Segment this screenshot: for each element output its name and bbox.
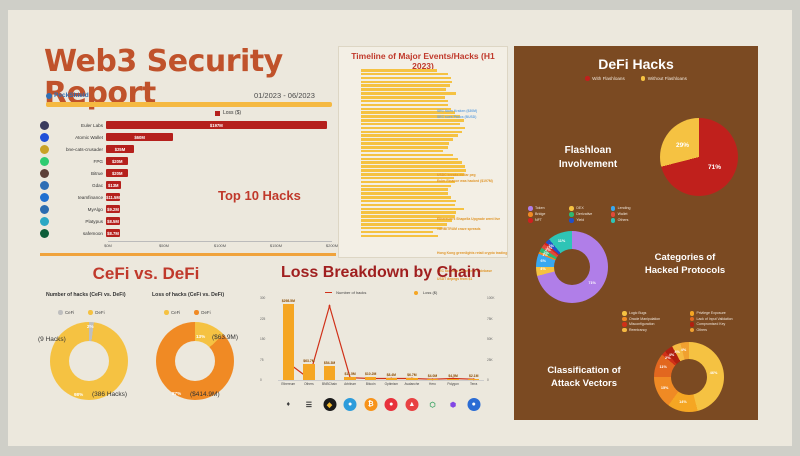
slice-label: 4%: [540, 267, 546, 271]
protocol-name: Atomic Wallet: [51, 135, 103, 140]
attack-vectors-title: Classification of Attack Vectors: [524, 364, 644, 390]
legend-swatch: [164, 310, 169, 315]
timeline-bar: [361, 81, 452, 84]
top10-legend: Loss ($): [215, 110, 241, 116]
y-axis-tick-right: 0: [487, 378, 489, 382]
legend-item: Loss ($): [414, 290, 437, 295]
loss-bar: $13M: [106, 181, 121, 189]
loss-value: $197M: [210, 123, 223, 128]
donut-hole: [175, 341, 215, 381]
polygon-icon: ⬢: [447, 398, 460, 411]
chain-axis-label: Polygon: [447, 382, 459, 386]
timeline-bar: [361, 150, 443, 153]
chain-loss-bar: [283, 304, 294, 380]
legend-item: Oracle Manipulation: [622, 317, 685, 322]
legend-item: Others: [611, 218, 648, 223]
timeline-annotation: SEC Sues Kraken ($30M): [437, 109, 477, 113]
brand-logo: PeckShield: [46, 92, 89, 99]
legend-item: CeFi: [58, 310, 74, 315]
legend-swatch: [690, 311, 695, 316]
legend-swatch: [528, 206, 533, 211]
legend-label: Reentrancy: [629, 328, 647, 332]
protocol-name: safemoon: [51, 231, 103, 236]
timeline-bar: [361, 77, 451, 80]
y-axis-tick-left: 225: [260, 317, 265, 321]
timeline-annotation: Ethereum's Shapella Upgrade went live: [437, 217, 500, 221]
chain-loss-bar: [427, 379, 438, 380]
chain-loss-bar: [365, 377, 376, 380]
slice-label: 6%: [540, 259, 546, 263]
top10-axis: $0M$50M$100M$150M$200M: [108, 241, 332, 252]
protocol-name: bne-cats-crusader: [51, 147, 103, 152]
timeline-annotation: USDC breaks dollar peg: [437, 173, 476, 177]
terra-icon: ●: [467, 398, 480, 411]
top10-row: safemoon$8.7M: [40, 228, 332, 238]
timeline-bar: [361, 196, 451, 199]
chain-axis-label: Arbitrum: [344, 382, 356, 386]
legend-item: Compromised Key: [690, 322, 753, 327]
flashloan-without-pct: 29%: [676, 142, 689, 149]
timeline-bar: [361, 127, 465, 130]
legend-label: DeFi: [201, 310, 210, 315]
top10-row: Atomic Wallet$60M: [40, 132, 332, 142]
legend-label: Yield: [576, 218, 584, 222]
timeline-bar: [361, 231, 433, 234]
timeline-bar: [361, 123, 460, 126]
timeline-bar: [361, 185, 451, 188]
cefi-loss-pct: 13%: [196, 334, 205, 339]
legend-item: With Flashloans: [585, 76, 625, 81]
loss-value: $11.5M: [106, 195, 120, 200]
protocol-logo-icon: [40, 217, 49, 226]
legend-label: Token: [535, 206, 545, 210]
defi-hacks-pct: 98%: [74, 392, 83, 397]
legend-item: NFT: [528, 218, 565, 223]
timeline-bar: [361, 158, 458, 161]
timeline-plot: SEC Sues Kraken ($30M)SEC sues Paxos (BU…: [361, 69, 483, 239]
timeline-bar: [361, 169, 466, 172]
loss-value: $20M: [112, 171, 122, 176]
timeline-bar: [361, 104, 448, 107]
axis-tick: $150M: [270, 243, 282, 248]
loss-value: $60M: [134, 135, 144, 140]
legend-label: CeFi: [171, 310, 180, 315]
chain-axis-label: Optimism: [385, 382, 398, 386]
legend-label: DEX: [576, 206, 583, 210]
axis-tick: $50M: [159, 243, 169, 248]
chain-loss-bar: [468, 379, 479, 380]
chain-loss-value: $298.5M: [282, 299, 295, 303]
loss-bar: $11.5M: [106, 193, 120, 201]
flashloan-legend: With FlashloansWithout Flashloans: [514, 76, 758, 81]
legend-swatch: [611, 206, 616, 211]
optimism-icon: ●: [385, 398, 398, 411]
timeline-annotation: SEC sues Paxos (BUSD): [437, 115, 476, 119]
defi-loss-pct: 87%: [172, 391, 181, 396]
top10-row: bne-cats-crusader$25M: [40, 144, 332, 154]
loss-of-hacks-legend: CeFiDeFi: [164, 310, 211, 315]
brand-name: PeckShield: [54, 92, 89, 99]
timeline-bar: [361, 96, 445, 99]
chain-loss-value: $63.7M: [303, 359, 314, 363]
legend-item: Others: [690, 328, 753, 333]
chain-loss-bar: [303, 364, 314, 380]
legend-label-loss: Loss ($): [223, 110, 241, 116]
legend-swatch: [690, 328, 695, 333]
top10-row: Euler Labs$197M: [40, 120, 332, 130]
bnbchain-icon: ◆: [323, 398, 336, 411]
defi-hacks-panel: DeFi Hacks With FlashloansWithout Flashl…: [514, 46, 758, 420]
protocol-logo-icon: [40, 205, 49, 214]
legend-swatch: [569, 218, 574, 223]
loss-bar: $60M: [106, 133, 173, 141]
timeline-bar: [361, 192, 448, 195]
attack-vectors-donut-chart: 46%14%15%11%2%4%4%4%: [654, 342, 724, 412]
legend-swatch: [611, 218, 616, 223]
timeline-annotation: Hong Kong greenlights retail crypto trad…: [437, 251, 507, 255]
protocol-logo-icon: [40, 157, 49, 166]
chain-axis-label: Terra: [470, 382, 477, 386]
axis-tick: $200M: [326, 243, 338, 248]
protocol-name: Bitrue: [51, 171, 103, 176]
timeline-bar: [361, 119, 464, 122]
number-of-hacks-legend: CeFiDeFi: [58, 310, 105, 315]
legend-item: Reentrancy: [622, 328, 685, 333]
legend-label: Others: [618, 218, 629, 222]
legend-item: Without Flashloans: [641, 76, 687, 81]
timeline-bar: [361, 161, 462, 164]
infographic-poster: Web3 Security Report PeckShield 01/2023 …: [8, 10, 792, 446]
legend-swatch: [569, 206, 574, 211]
ethereum-icon: ♦: [282, 398, 295, 411]
section-divider-top: [40, 253, 336, 256]
timeline-bar: [361, 138, 453, 141]
top10-row: Bitrue$20M: [40, 168, 332, 178]
legend-item: Number of hacks: [325, 290, 367, 295]
legend-swatch: [622, 317, 627, 322]
legend-item: Wallet: [611, 212, 648, 217]
legend-swatch: [414, 291, 418, 295]
cefi-loss-annotation: ($63.9M): [212, 334, 238, 341]
flashloan-label-line1: Flashloan: [528, 144, 648, 158]
protocol-logo-icon: [40, 229, 49, 238]
y-axis-tick-left: 300: [260, 296, 265, 300]
cefi-hacks-pct: 2%: [87, 324, 94, 329]
legend-item: Misconfiguration: [622, 322, 685, 327]
legend-swatch: [569, 212, 574, 217]
attack-vectors-title-line2: Attack Vectors: [524, 377, 644, 390]
legend-label: Wallet: [618, 212, 628, 216]
axis-tick: $100M: [214, 243, 226, 248]
chain-axis-label: Bitcoin: [366, 382, 376, 386]
legend-item: Derivative: [569, 212, 606, 217]
flashloan-pie-chart: 71%29%: [660, 118, 738, 196]
legend-swatch: [611, 212, 616, 217]
timeline-annotation: #ARBITRUM craze spreads: [437, 227, 481, 231]
protocol-logo-icon: [40, 193, 49, 202]
y-axis-tick-right: 75K: [487, 317, 493, 321]
legend-item: DeFi: [194, 310, 210, 315]
legend-swatch: [88, 310, 93, 315]
legend-item: Bridge: [528, 212, 565, 217]
donut-hole: [69, 341, 109, 381]
legend-label: Logic Bugs: [629, 311, 646, 315]
timeline-title: Timeline of Major Events/Hacks (H1 2023): [343, 51, 503, 71]
timeline-bar: [361, 188, 448, 191]
timeline-bar: [361, 88, 446, 91]
legend-swatch: [641, 76, 646, 81]
legend-swatch: [528, 212, 533, 217]
legend-swatch: [585, 76, 590, 81]
loss-bar: $20M: [106, 169, 128, 177]
legend-swatch-loss: [215, 111, 220, 116]
loss-breakdown-legend: Number of hacksLoss ($): [256, 290, 506, 295]
timeline-bar: [361, 235, 438, 238]
legend-swatch: [690, 317, 695, 322]
chain-loss-value: $8.4M: [387, 373, 396, 377]
loss-bar: $9.2M: [106, 205, 120, 213]
date-range: 01/2023 - 06/2023: [254, 91, 315, 100]
loss-of-hacks-subtitle: Loss of hacks (CeFi vs. DeFi): [152, 292, 224, 298]
chain-loss-value: $10.2M: [365, 372, 376, 376]
legend-swatch: [58, 310, 63, 315]
legend-label: Bridge: [535, 212, 545, 216]
slice-label: 11%: [660, 365, 667, 369]
protocol-name: Euler Labs: [51, 123, 103, 128]
bitcoin-icon: ₿: [364, 398, 377, 411]
legend-item: Token: [528, 206, 565, 211]
chain-loss-bar: [344, 377, 355, 380]
loss-value: $20M: [112, 159, 122, 164]
legend-label: Lack of Input Validation: [697, 317, 733, 321]
legend-swatch: [528, 218, 533, 223]
loss-value: $25M: [115, 147, 125, 152]
cefi-vs-defi-section: CeFi vs. DeFi Number of hacks (CeFi vs. …: [40, 260, 252, 420]
chain-loss-value: $6.7M: [407, 373, 416, 377]
y-axis-tick-left: 75: [260, 358, 264, 362]
legend-label: CeFi: [65, 310, 74, 315]
loss-value: $8.5M: [107, 219, 119, 224]
slice-label: 71%: [588, 281, 596, 285]
legend-item: DeFi: [88, 310, 104, 315]
defi-hacks-annotation: (386 Hacks): [92, 391, 127, 398]
chain-loss-value: $54.3M: [324, 361, 335, 365]
legend-label: Number of hacks: [336, 290, 366, 295]
categories-title: Categories of Hacked Protocols: [622, 251, 748, 277]
protocol-logo-icon: [40, 145, 49, 154]
legend-item: Lack of Input Validation: [690, 317, 753, 322]
legend-label: Without Flashloans: [648, 76, 687, 81]
loss-bar: $197M: [106, 121, 327, 129]
top10-caption: Top 10 Hacks: [218, 188, 301, 203]
timeline-bar: [361, 208, 464, 211]
number-of-hacks-donut: [50, 322, 128, 400]
slice-label: 15%: [661, 386, 669, 390]
timeline-bar: [361, 92, 456, 95]
chain-loss-value: $4.5M: [448, 374, 457, 378]
timeline-bar: [361, 200, 456, 203]
legend-label: Misconfiguration: [629, 322, 654, 326]
top10-row: FPG$20M: [40, 156, 332, 166]
timeline-bar: [361, 223, 447, 226]
categories-title-line2: Hacked Protocols: [622, 264, 748, 277]
legend-item: Logic Bugs: [622, 311, 685, 316]
loss-bar: $20M: [106, 157, 128, 165]
chain-loss-bar: [386, 378, 397, 380]
timeline-annotation: Euler Finance was hacked ($197M): [437, 179, 493, 183]
legend-item: Lending: [611, 206, 648, 211]
brand-mark-icon: [46, 93, 52, 99]
chain-loss-value: $11.5M: [345, 372, 356, 376]
protocol-logo-icon: [40, 121, 49, 130]
legend-swatch: [622, 311, 627, 316]
others-icon: ☰: [302, 398, 315, 411]
defi-loss-annotation: ($414.9M): [190, 391, 220, 398]
top-10-hacks-chart: Loss ($) Euler Labs$197MAtomic Wallet$60…: [40, 110, 336, 258]
cefi-vs-defi-title: CeFi vs. DeFi: [40, 264, 252, 284]
timeline-bar: [361, 131, 462, 134]
slice-label: 4%: [669, 353, 675, 357]
protocol-name: Gdac: [51, 183, 103, 188]
legend-swatch: [622, 328, 627, 333]
timeline-bar: [361, 211, 456, 214]
legend-item: CeFi: [164, 310, 180, 315]
legend-swatch: [622, 322, 627, 327]
protocol-name: Platypus: [51, 219, 103, 224]
number-of-hacks-subtitle: Number of hacks (CeFi vs. DeFi): [46, 292, 126, 298]
slice-label: 14%: [679, 400, 687, 404]
chain-loss-bar: [324, 366, 335, 380]
flashloan-with-pct: 71%: [708, 164, 721, 171]
flashloan-label-line2: Involvement: [528, 158, 648, 172]
loss-bar: $8.7M: [106, 229, 120, 237]
cefi-hacks-annotation: (9 Hacks): [38, 336, 66, 343]
legend-swatch: [325, 292, 332, 294]
y-axis-tick-left: 150: [260, 337, 265, 341]
timeline-bar: [361, 146, 448, 149]
loss-bar: $25M: [106, 145, 134, 153]
protocol-logo-icon: [40, 133, 49, 142]
protocol-logo-icon: [40, 181, 49, 190]
hero-icon: ⬡: [426, 398, 439, 411]
arbitrum-icon: ●: [344, 398, 357, 411]
top10-row: Platypus$8.5M: [40, 216, 332, 226]
timeline-bar: [361, 142, 449, 145]
protocol-name: FPG: [51, 159, 103, 164]
flashloan-involvement-label: Flashloan Involvement: [528, 144, 648, 172]
timeline-panel: Timeline of Major Events/Hacks (H1 2023)…: [338, 46, 508, 258]
slice-label: 4%: [674, 350, 680, 354]
slice-label: 4%: [681, 348, 687, 352]
legend-label: Oracle Manipulation: [629, 317, 660, 321]
legend-label: Privilege Exposure: [697, 311, 726, 315]
legend-item: Privilege Exposure: [690, 311, 753, 316]
slice-label: 46%: [710, 371, 718, 375]
page-title: Web3 Security Report: [44, 46, 344, 110]
y-axis-tick-right: 25K: [487, 358, 493, 362]
protocol-name: teamfinance: [51, 195, 103, 200]
legend-item: DEX: [569, 206, 606, 211]
categories-donut-chart: 71%4%6%1%2%2%1%2%11%: [536, 231, 608, 303]
timeline-bar: [361, 227, 442, 230]
legend-label: Lending: [618, 206, 631, 210]
legend-label: Loss ($): [423, 290, 437, 295]
timeline-bar: [361, 204, 455, 207]
chain-loss-bar: [447, 379, 458, 380]
protocol-name: MyAlgo: [51, 207, 103, 212]
legend-label: NFT: [535, 218, 542, 222]
legend-item: Yield: [569, 218, 606, 223]
attack-vectors-legend: Logic BugsPrivilege ExposureOracle Manip…: [622, 311, 752, 332]
legend-label: Others: [697, 328, 708, 332]
chain-loss-value: $4.0M: [428, 374, 437, 378]
loss-breakdown-plot: $298.5MEthereum♦$63.7MOthers☰$54.3MBNBCh…: [278, 298, 484, 381]
timeline-bar: [361, 165, 465, 168]
loss-breakdown-section: Loss Breakdown by Chain Number of hacksL…: [256, 260, 506, 420]
protocol-logo-icon: [40, 169, 49, 178]
chain-axis-label: Others: [304, 382, 314, 386]
categories-title-line1: Categories of: [622, 251, 748, 264]
chain-axis-label: BNBChain: [322, 382, 337, 386]
donut-hole: [671, 359, 707, 395]
legend-swatch: [690, 322, 695, 327]
timeline-bar: [361, 134, 458, 137]
legend-swatch: [194, 310, 199, 315]
legend-label: Derivative: [576, 212, 592, 216]
top10-row: MyAlgo$9.2M: [40, 204, 332, 214]
categories-legend: TokenDEXLendingBridgeDerivativeWalletNFT…: [528, 206, 648, 223]
loss-breakdown-title: Loss Breakdown by Chain: [256, 264, 506, 282]
donut-hole: [554, 249, 590, 285]
chain-axis-label: Avalanche: [404, 382, 419, 386]
avalanche-icon: ▲: [405, 398, 418, 411]
chain-axis-label: Ethereum: [281, 382, 295, 386]
y-axis-tick-right: 50K: [487, 337, 493, 341]
loss-value: $8.7M: [107, 231, 119, 236]
loss-bar: $8.5M: [106, 217, 120, 225]
timeline-bar: [361, 100, 448, 103]
axis-tick: $0M: [104, 243, 112, 248]
legend-label: Compromised Key: [697, 322, 726, 326]
defi-hacks-title: DeFi Hacks: [514, 56, 758, 72]
loss-value: $9.2M: [107, 207, 119, 212]
y-axis-tick-right: 100K: [487, 296, 494, 300]
timeline-bar: [361, 154, 453, 157]
legend-label: DeFi: [95, 310, 104, 315]
legend-label: With Flashloans: [592, 76, 625, 81]
chain-loss-value: $2.1M: [469, 374, 478, 378]
header-divider: [46, 102, 332, 107]
slice-label: 2%: [549, 244, 555, 248]
timeline-bar: [361, 69, 437, 72]
loss-value: $13M: [108, 183, 118, 188]
timeline-bar: [361, 84, 450, 87]
chain-axis-label: Hero: [429, 382, 436, 386]
timeline-bar: [361, 73, 448, 76]
slice-label: 11%: [558, 239, 565, 243]
attack-vectors-title-line1: Classification of: [524, 364, 644, 377]
y-axis-tick-left: 0: [260, 378, 262, 382]
chain-loss-bar: [406, 378, 417, 380]
